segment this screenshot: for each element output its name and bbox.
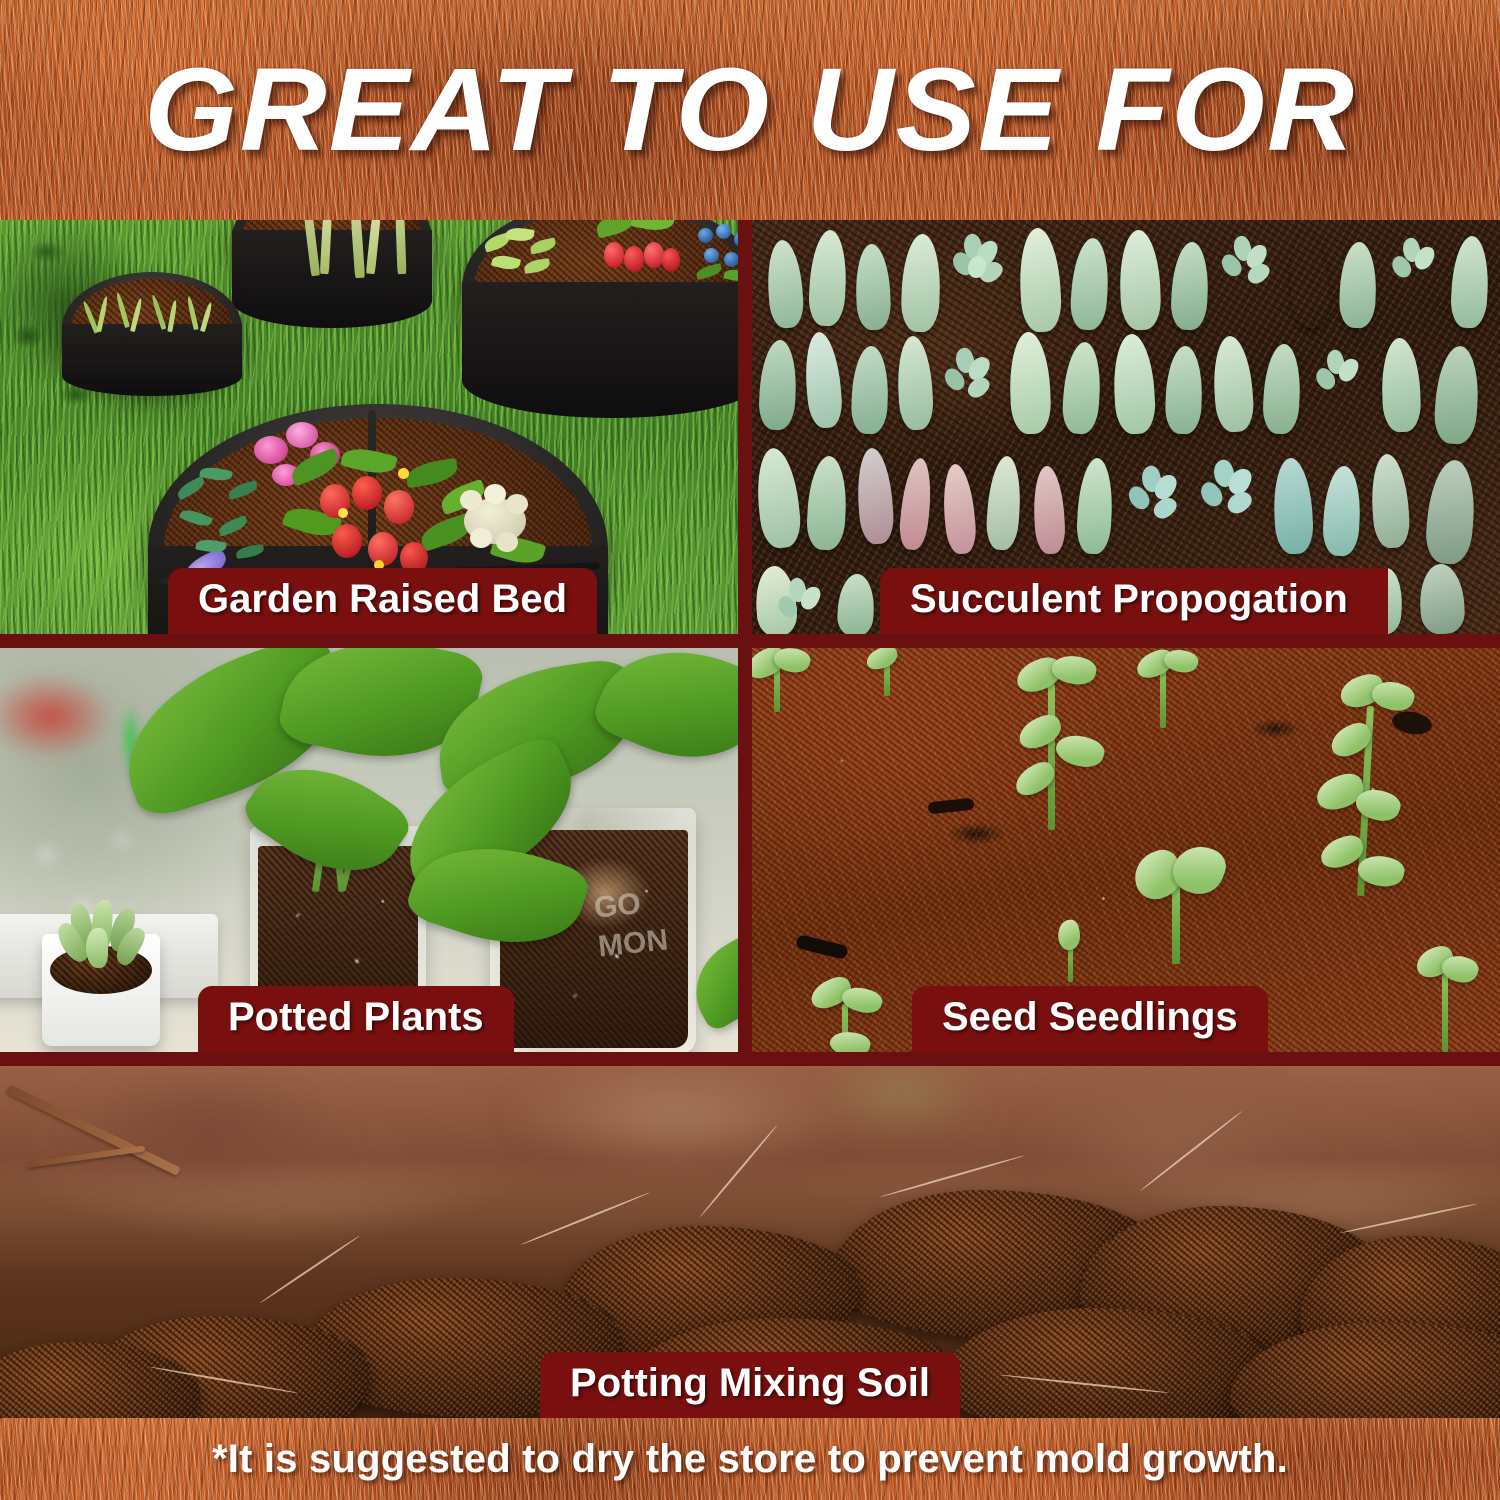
seedling — [1004, 654, 1114, 834]
panel-label-potted-plants: Potted Plants — [198, 986, 514, 1052]
succulent-rosette — [1218, 236, 1276, 292]
herb-bush — [170, 464, 288, 574]
succulent-rosette — [774, 578, 830, 632]
seedling — [752, 648, 814, 718]
panel-seed-seedlings[interactable]: Seed Seedlings — [752, 648, 1500, 1052]
panel-garden-raised-bed[interactable]: Garden Raised Bed — [0, 220, 738, 634]
scallion-cluster — [300, 220, 430, 286]
panel-potting-mixing-soil[interactable]: Potting Mixing Soil — [0, 1066, 1500, 1418]
succulent-rosette — [1124, 466, 1186, 524]
seedling — [1312, 672, 1432, 902]
blueberry-section — [694, 222, 738, 296]
header-banner: GREAT TO USE FOR — [0, 0, 1500, 220]
succulent-rosette — [1312, 350, 1368, 404]
succulent-rosette — [1388, 238, 1444, 292]
succulent-rosette — [948, 234, 1008, 292]
grow-bag-wall — [462, 282, 738, 418]
page-title: GREAT TO USE FOR — [144, 51, 1356, 169]
panel-label-garden-raised-bed: Garden Raised Bed — [168, 568, 597, 634]
storage-note: *It is suggested to dry the store to pre… — [212, 1437, 1288, 1482]
succulent-rosette — [940, 348, 998, 404]
panel-label-potting-mixing-soil: Potting Mixing Soil — [540, 1352, 960, 1418]
seedling-row — [82, 282, 224, 352]
seedling — [1412, 948, 1482, 1052]
panel-succulent-propogation[interactable]: Succulent Propogation — [752, 220, 1500, 634]
use-case-grid: Garden Raised Bed — [0, 220, 1500, 1418]
seedling — [808, 978, 888, 1052]
panel-label-seed-seedlings: Seed Seedlings — [912, 986, 1268, 1052]
seedling — [1052, 920, 1092, 984]
haworthia-succulent — [56, 900, 150, 980]
radish-section — [590, 220, 700, 296]
succulent-rosette — [1196, 460, 1260, 520]
seedling — [860, 648, 916, 700]
panel-label-succulent-propogation: Succulent Propogation — [880, 568, 1388, 634]
footer-banner: *It is suggested to dry the store to pre… — [0, 1418, 1500, 1500]
blurred-backdrop — [0, 1066, 1500, 1228]
jar-embossed-text: GOMON — [596, 884, 686, 976]
seedling — [1130, 650, 1200, 734]
panel-potted-plants[interactable]: GOMON Potted Plants — [0, 648, 738, 1052]
infographic-poster: GREAT TO USE FOR — [0, 0, 1500, 1500]
lettuce-section — [480, 222, 584, 288]
seedling — [1130, 838, 1230, 968]
